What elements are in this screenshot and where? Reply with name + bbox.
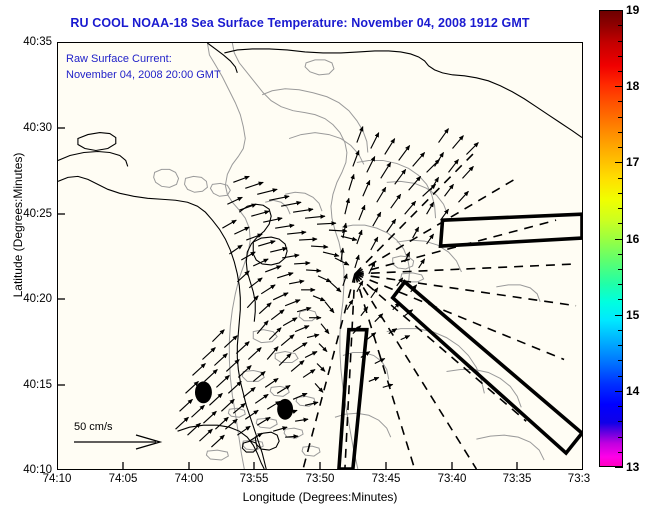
y-axis-tickmarks	[57, 42, 69, 471]
colorbar-label-13: 13	[626, 460, 639, 474]
velocity-scale-bar: 50 cm/s	[70, 421, 190, 455]
y-tick-4: 40:15	[0, 379, 52, 391]
colorbar-label-15: 15	[626, 308, 639, 322]
x-tick-7: 73:35	[503, 473, 532, 485]
x-tick-0: 74:10	[43, 473, 72, 485]
x-tick-3: 73:55	[240, 473, 269, 485]
x-tick-1: 74:05	[109, 473, 138, 485]
colorbar-label-16: 16	[626, 232, 639, 246]
scale-bar-label: 50 cm/s	[70, 421, 190, 433]
y-axis-label: Latitude (Degrees:Minutes)	[11, 145, 25, 305]
y-tick-2: 40:25	[0, 208, 52, 220]
y-tick-0: 40:35	[0, 36, 52, 48]
x-tick-2: 74:00	[175, 473, 204, 485]
colorbar-label-17: 17	[626, 155, 639, 169]
x-tick-6: 73:40	[438, 473, 467, 485]
station-markers	[195, 381, 293, 419]
x-axis-tickmarks	[57, 459, 584, 471]
sst-map-figure: RU COOL NOAA-18 Sea Surface Temperature:…	[0, 0, 651, 519]
y-tick-1: 40:30	[0, 122, 52, 134]
y-tick-3: 40:20	[0, 293, 52, 305]
x-tick-5: 73:45	[372, 473, 401, 485]
station-marker-west	[195, 381, 212, 403]
colorbar-label-18: 18	[626, 79, 639, 93]
colorbar[interactable]: 19 18 17 16 15 14 13	[599, 10, 623, 467]
colorbar-label-14: 14	[626, 384, 639, 398]
x-tick-8: 73:3	[568, 473, 590, 485]
x-tick-4: 73:50	[306, 473, 335, 485]
scale-bar-arrow-icon	[70, 434, 180, 450]
figure-title: RU COOL NOAA-18 Sea Surface Temperature:…	[0, 16, 600, 30]
x-axis-label: Longitude (Degrees:Minutes)	[57, 490, 583, 504]
colorbar-label-19: 19	[626, 3, 639, 17]
map-graphics	[58, 43, 582, 469]
map-plot-area[interactable]: Raw Surface Current: November 04, 2008 2…	[57, 42, 583, 470]
colorbar-tickmarks	[599, 10, 623, 467]
